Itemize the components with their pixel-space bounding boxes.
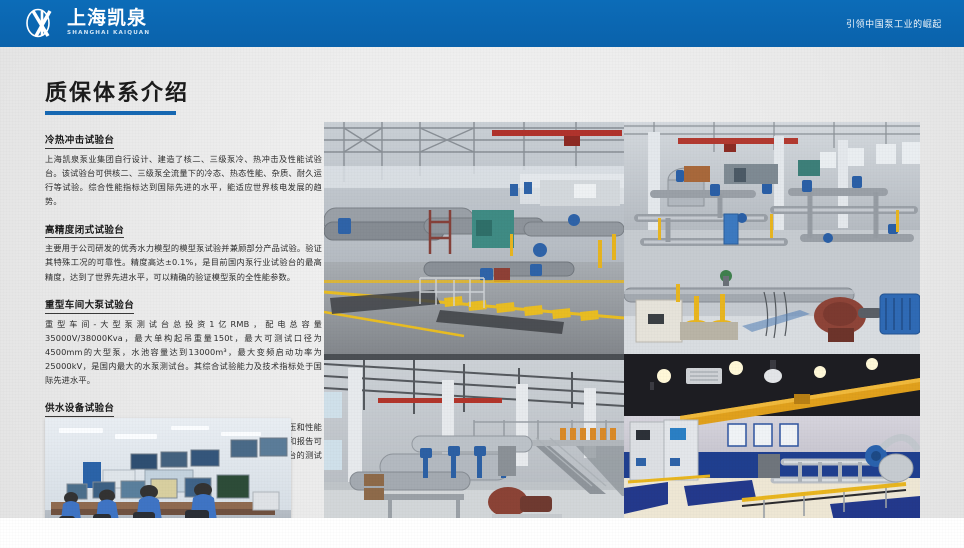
slide-canvas: 质保体系介绍 冷热冲击试验台 上海凯泉泵业集团自行设计、建造了核二、三级泵冷、热…	[0, 47, 964, 548]
section-block: 冷热冲击试验台 上海凯泉泵业集团自行设计、建造了核二、三级泵冷、热冲击及性能试验…	[45, 128, 322, 208]
header-bar: 上海凯泉 SHANGHAI KAIQUAN 引领中国泵工业的崛起	[0, 0, 964, 47]
section-heading: 重型车间大泵试验台	[45, 300, 134, 314]
section-body: 主要用于公司研发的优秀水力模型的模型泵试验并兼顾部分产品试验。验证其特殊工况的可…	[45, 241, 322, 283]
title-underline	[45, 111, 176, 115]
section-body: 重型车间-大型泵测试台总投资1亿RMB，配电总容量35000V/38000Kva…	[45, 317, 322, 388]
photo-closed-loop-test-rig	[624, 122, 920, 270]
photo-large-pump-test-bed-hall	[324, 122, 624, 354]
slide-page: 上海凯泉 SHANGHAI KAIQUAN 引领中国泵工业的崛起 质保体系介绍 …	[0, 0, 964, 548]
photo-pump-motor-test-skid	[624, 270, 920, 354]
section-block: 高精度闭式试验台 主要用于公司研发的优秀水力模型的模型泵试验并兼顾部分产品试验。…	[45, 218, 322, 284]
footer-strip	[0, 518, 964, 548]
section-block: 重型车间大泵试验台 重型车间-大型泵测试台总投资1亿RMB，配电总容量35000…	[45, 293, 322, 387]
section-heading: 冷热冲击试验台	[45, 135, 114, 149]
header-tagline: 引领中国泵工业的崛起	[846, 17, 942, 30]
brand-logo[interactable]: 上海凯泉 SHANGHAI KAIQUAN	[24, 7, 149, 39]
section-heading: 高精度闭式试验台	[45, 225, 124, 239]
section-heading: 供水设备试验台	[45, 403, 114, 417]
brand-name-cn: 上海凯泉	[67, 9, 149, 28]
brand-name-en: SHANGHAI KAIQUAN	[67, 31, 150, 37]
section-body: 上海凯泉泵业集团自行设计、建造了核二、三级泵冷、热冲击及性能试验台。该试验台可供…	[45, 152, 322, 208]
photo-gallery	[324, 122, 920, 548]
page-title: 质保体系介绍	[45, 82, 322, 106]
kaiquan-kx-monogram-icon	[24, 7, 60, 39]
